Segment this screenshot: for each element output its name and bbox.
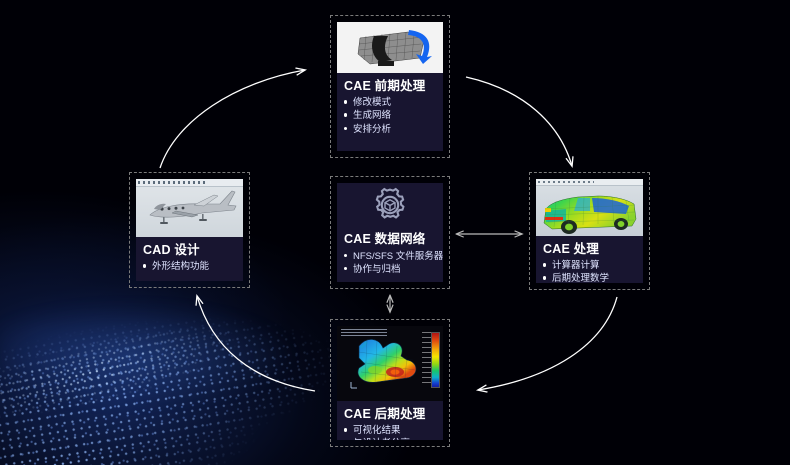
bullet-item: 计算器计算 bbox=[543, 259, 636, 272]
node-cae-pre[interactable]: CAE 前期处理 修改模式 生成网络 安排分析 bbox=[330, 15, 450, 158]
bullet-item: 安排分析 bbox=[344, 123, 436, 136]
node-title: CAE 前期处理 bbox=[344, 79, 436, 93]
node-bullets: 可视化结果 与设计者分享 bbox=[344, 424, 436, 440]
bullet-item: 生成网络 bbox=[344, 109, 436, 122]
node-cad-design[interactable]: CAD 设计 外形结构功能 bbox=[129, 172, 250, 288]
bullet-item: 与设计者分享 bbox=[344, 437, 436, 440]
connector-pre-to-solve bbox=[466, 77, 572, 166]
node-cae-post[interactable]: CAE 后期处理 可视化结果 与设计者分享 bbox=[330, 319, 450, 447]
gear-cube-icon bbox=[370, 185, 410, 225]
node-bullets: 外形结构功能 bbox=[143, 260, 236, 273]
node-bullets: NFS/SFS 文件服务器 协作与归档 bbox=[344, 250, 436, 276]
gear-cube-icon-container bbox=[337, 183, 443, 226]
bullet-item: 修改模式 bbox=[344, 96, 436, 109]
node-bullets: 修改模式 生成网络 安排分析 bbox=[344, 96, 436, 135]
diagram-canvas: CAE 前期处理 修改模式 生成网络 安排分析 bbox=[0, 0, 790, 465]
connector-cad-to-pre bbox=[160, 70, 305, 168]
car-contour-art bbox=[536, 179, 643, 236]
node-bullets: 计算器计算 后期处理数学 bbox=[543, 259, 636, 283]
particle-wave-mesh bbox=[0, 213, 536, 465]
node-title: CAE 处理 bbox=[543, 242, 636, 256]
car-simulation-thumbnail bbox=[536, 179, 643, 236]
connector-post-to-cad bbox=[197, 296, 315, 391]
bullet-item: 可视化结果 bbox=[344, 424, 436, 437]
bullet-item: 协作与归档 bbox=[344, 263, 436, 276]
aircraft-cad-thumbnail bbox=[136, 179, 243, 237]
contour-legend-bar bbox=[431, 332, 440, 388]
node-cae-solve[interactable]: CAE 处理 计算器计算 后期处理数学 bbox=[529, 172, 650, 290]
mesh-model-thumbnail bbox=[337, 22, 443, 73]
blue-curved-arrow-icon bbox=[403, 26, 437, 66]
aircraft-art bbox=[136, 179, 243, 237]
bullet-item: 后期处理数学 bbox=[543, 272, 636, 283]
node-title: CAE 数据网络 bbox=[344, 232, 436, 246]
node-title: CAD 设计 bbox=[143, 243, 236, 257]
stress-contour-thumbnail bbox=[337, 326, 443, 401]
node-title: CAE 后期处理 bbox=[344, 407, 436, 421]
bullet-item: 外形结构功能 bbox=[143, 260, 236, 273]
bullet-item: NFS/SFS 文件服务器 bbox=[344, 250, 436, 263]
connector-solve-to-post bbox=[478, 297, 617, 390]
node-cae-data-network[interactable]: CAE 数据网络 NFS/SFS 文件服务器 协作与归档 bbox=[330, 176, 450, 289]
